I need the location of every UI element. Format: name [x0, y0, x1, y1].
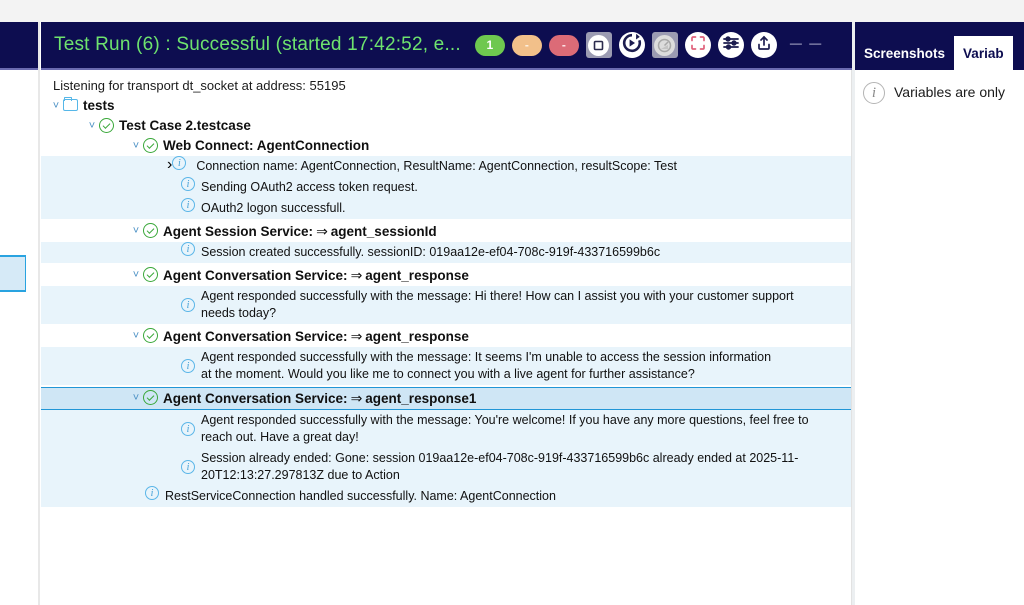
chevron-down-icon[interactable]: ˅ [129, 136, 143, 156]
log-message-row[interactable]: i Agent responded successfully with the … [41, 347, 851, 385]
details-panel-body: i Variables are only [855, 70, 1024, 605]
tree-node-step[interactable]: ˅ Agent Conversation Service:⇒agent_resp… [41, 326, 851, 347]
check-circle-icon [143, 223, 158, 238]
check-circle-icon [143, 138, 158, 153]
chevron-down-icon[interactable]: ˅ [49, 96, 63, 116]
tree-root-label: tests [83, 96, 115, 116]
log-message-text: OAuth2 logon successfull. [195, 198, 346, 219]
check-circle-icon [143, 390, 158, 405]
info-icon: i [181, 242, 195, 256]
implies-arrow-icon: ⇒ [348, 390, 366, 406]
testcase-label: Test Case 2.testcase [119, 116, 251, 136]
log-message-row[interactable]: i Sending OAuth2 access token request. [41, 177, 851, 198]
left-adjacent-panel [0, 22, 38, 605]
test-results-tree[interactable]: Listening for transport dt_socket at add… [41, 70, 852, 605]
log-message-row[interactable]: i OAuth2 logon successfull. [41, 198, 851, 219]
sliders-icon [722, 34, 740, 57]
step-result-name: agent_response [365, 268, 469, 283]
log-message-text: Session created successfully. sessionID:… [195, 242, 660, 263]
check-circle-icon [143, 328, 158, 343]
log-message-row[interactable]: i Agent responded successfully with the … [41, 410, 851, 448]
test-run-titlebar: Test Run (6) : Successful (started 17:42… [41, 22, 852, 70]
tree-node-step[interactable]: ˅ Agent Session Service:⇒agent_sessionId [41, 221, 851, 242]
scroll-lock-button[interactable] [685, 32, 711, 58]
info-icon: i [181, 460, 195, 474]
info-icon: i [181, 359, 195, 373]
step-label: Web Connect: AgentConnection [163, 136, 369, 156]
panel-divider-left [38, 22, 40, 605]
implies-arrow-icon: ⇒ [313, 223, 331, 239]
tab-screenshots[interactable]: Screenshots [855, 36, 954, 70]
check-circle-icon [99, 118, 114, 133]
test-run-title: Test Run (6) : Successful (started 17:42… [54, 34, 461, 56]
stop-button[interactable] [586, 32, 612, 58]
chevron-down-icon[interactable]: ˅ [129, 388, 143, 408]
console-line-row: Listening for transport dt_socket at add… [41, 76, 851, 96]
chevron-down-icon[interactable]: ˅ [129, 221, 143, 241]
rerun-failed-icon [654, 35, 675, 56]
implies-arrow-icon: ⇒ [348, 328, 366, 344]
log-message-row[interactable]: i Session already ended: Gone: session 0… [41, 448, 851, 486]
step-label: Agent Conversation Service: [163, 268, 348, 283]
log-message-row[interactable]: i Agent responded successfully with the … [41, 286, 851, 324]
info-icon: i [172, 156, 186, 170]
console-line: Listening for transport dt_socket at add… [41, 76, 346, 96]
tree-node-root[interactable]: ˅ tests [41, 96, 851, 116]
stop-icon [588, 35, 609, 56]
check-circle-icon [143, 267, 158, 282]
left-adjacent-panel-header [0, 22, 38, 70]
chevron-down-icon[interactable]: ˅ [129, 326, 143, 346]
test-results-window: Test Run (6) : Successful (started 17:42… [0, 0, 1024, 605]
log-message-row[interactable]: i Session created successfully. sessionI… [41, 242, 851, 263]
step-label: Agent Session Service: [163, 224, 313, 239]
log-message-text: RestServiceConnection handled successful… [159, 486, 556, 507]
settings-button[interactable] [718, 32, 744, 58]
info-icon: i [863, 82, 885, 104]
skipped-count-badge: - [512, 35, 542, 56]
details-panel-message: Variables are only [894, 82, 1005, 102]
log-message-text: Agent responded successfully with the me… [195, 286, 819, 324]
log-message-text: Connection name: AgentConnection, Result… [186, 156, 677, 177]
step-result-name: agent_response1 [365, 391, 476, 406]
folder-icon [63, 99, 78, 111]
export-icon [756, 35, 772, 56]
log-message-row[interactable]: › i Connection name: AgentConnection, Re… [41, 156, 851, 177]
tree-node-step-selected[interactable]: ˅ Agent Conversation Service:⇒agent_resp… [41, 387, 851, 410]
focus-brackets-icon [690, 35, 706, 56]
export-button[interactable] [751, 32, 777, 58]
tree-node-testcase[interactable]: ˅ Test Case 2.testcase [41, 116, 851, 136]
passed-count-badge: 1 [475, 35, 505, 56]
failed-count-badge: - [549, 35, 579, 56]
implies-arrow-icon: ⇒ [348, 267, 366, 283]
details-tabbar: Screenshots Variab [855, 22, 1024, 70]
chevron-down-icon[interactable]: ˅ [85, 116, 99, 136]
log-message-row[interactable]: i RestServiceConnection handled successf… [41, 486, 851, 507]
window-top-strip [0, 0, 1024, 22]
rerun-icon [621, 32, 643, 59]
rerun-failed-button [652, 32, 678, 58]
left-adjacent-selected-item[interactable] [0, 255, 26, 292]
tab-variables[interactable]: Variab [954, 36, 1013, 70]
info-icon: i [181, 298, 195, 312]
info-icon: i [181, 422, 195, 436]
log-message-text: Session already ended: Gone: session 019… [195, 448, 811, 486]
rerun-button[interactable] [619, 32, 645, 58]
test-run-toolbar: 1 - - [475, 32, 823, 58]
log-message-text: Agent responded successfully with the me… [195, 347, 775, 385]
step-result-name: agent_sessionId [331, 224, 437, 239]
info-icon: i [181, 177, 195, 191]
info-icon: i [145, 486, 159, 500]
step-label: Agent Conversation Service: [163, 329, 348, 344]
step-label: Agent Conversation Service: [163, 391, 348, 406]
log-message-text: Agent responded successfully with the me… [195, 410, 815, 448]
chevron-down-icon[interactable]: ˅ [129, 265, 143, 285]
tree-node-step[interactable]: ˅ Agent Conversation Service:⇒agent_resp… [41, 265, 851, 286]
log-message-text: Sending OAuth2 access token request. [195, 177, 418, 198]
tree-node-step[interactable]: ˅ Web Connect: AgentConnection [41, 136, 851, 156]
toolbar-overflow[interactable]: — — [790, 36, 823, 50]
info-icon: i [181, 198, 195, 212]
step-result-name: agent_response [365, 329, 469, 344]
